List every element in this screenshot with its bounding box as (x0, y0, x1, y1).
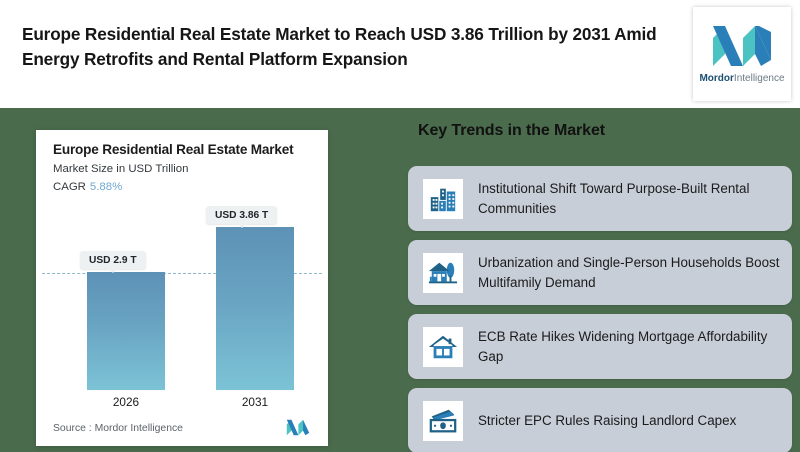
logo-wordmark: MordorIntelligence (699, 73, 784, 84)
trend-card-4[interactable]: Stricter EPC Rules Raising Landlord Cape… (408, 388, 792, 452)
banknotes-icon (423, 401, 463, 441)
x-axis-label-2026: 2026 (87, 395, 165, 409)
trend-card-2[interactable]: Urbanization and Single-Person Household… (408, 240, 792, 305)
house-with-tree-icon (423, 253, 463, 293)
house-icon (423, 327, 463, 367)
chart-subtitle: Market Size in USD Trillion (53, 163, 188, 175)
chart-cagr: CAGR5.88% (53, 181, 122, 193)
trends-heading: Key Trends in the Market (418, 122, 605, 140)
bar-value-label-2026: USD 2.9 T (80, 251, 146, 269)
bar-chart-plot: USD 2.9 T USD 3.86 T 2026 2031 (36, 210, 328, 408)
chart-card: Europe Residential Real Estate Market Ma… (36, 130, 328, 446)
poster-root: Europe Residential Real Estate Market to… (0, 0, 800, 452)
mordor-mark-icon (285, 419, 311, 436)
chart-source: Source : Mordor Intelligence (53, 423, 183, 434)
trend-card-1-text: Institutional Shift Toward Purpose-Built… (478, 179, 780, 217)
trends-list: Institutional Shift Toward Purpose-Built… (408, 166, 792, 452)
bar-value-label-2031: USD 3.86 T (206, 206, 277, 224)
cagr-label: CAGR (53, 181, 86, 193)
trend-card-2-text: Urbanization and Single-Person Household… (478, 253, 780, 291)
cagr-value: 5.88% (90, 181, 122, 193)
bar-2026[interactable] (87, 272, 165, 390)
trend-card-3[interactable]: ECB Rate Hikes Widening Mortgage Afforda… (408, 314, 792, 379)
logo-brand-text: Mordor (699, 73, 733, 84)
bar-2031[interactable] (216, 227, 294, 390)
x-axis-label-2031: 2031 (216, 395, 294, 409)
trend-card-3-text: ECB Rate Hikes Widening Mortgage Afforda… (478, 327, 780, 365)
header-band: Europe Residential Real Estate Market to… (0, 0, 800, 108)
page-title: Europe Residential Real Estate Market to… (22, 22, 662, 72)
logo-suffix-text: Intelligence (734, 73, 785, 84)
city-buildings-icon (423, 179, 463, 219)
brand-logo: MordorIntelligence (693, 7, 791, 101)
trend-card-1[interactable]: Institutional Shift Toward Purpose-Built… (408, 166, 792, 231)
chart-title: Europe Residential Real Estate Market (53, 142, 293, 157)
trend-card-4-text: Stricter EPC Rules Raising Landlord Cape… (478, 411, 736, 430)
mordor-intelligence-logo-icon (711, 24, 773, 68)
